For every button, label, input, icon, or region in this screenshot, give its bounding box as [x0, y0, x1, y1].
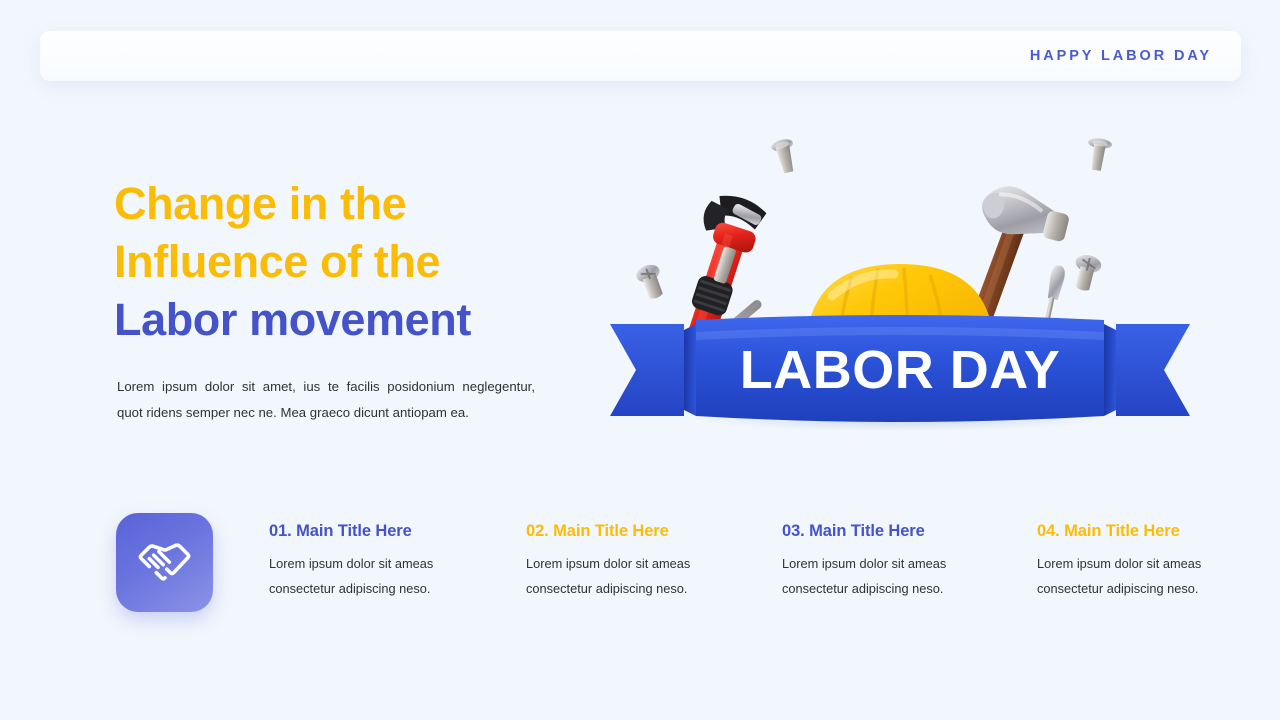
feature-card-body-line-1: Lorem ipsum dolor sit ameas: [526, 551, 756, 576]
headline-line-1: Change in the: [114, 175, 634, 233]
feature-card-body: Lorem ipsum dolor sit ameas consectetur …: [782, 551, 1012, 601]
handshake-icon: [137, 535, 193, 591]
feature-card-body-line-1: Lorem ipsum dolor sit ameas: [269, 551, 499, 576]
feature-card-title: 04. Main Title Here: [1037, 522, 1267, 541]
feature-card-body-line-2: consectetur adipiscing neso.: [1037, 576, 1267, 601]
ribbon-banner: LABOR DAY: [610, 315, 1190, 422]
feature-card-title: 02. Main Title Here: [526, 522, 756, 541]
feature-card-body: Lorem ipsum dolor sit ameas consectetur …: [269, 551, 499, 601]
feature-card-01[interactable]: 01. Main Title Here Lorem ipsum dolor si…: [269, 522, 499, 601]
slide-canvas: HAPPY LABOR DAY Change in the Influence …: [0, 0, 1280, 720]
feature-card-title: 03. Main Title Here: [782, 522, 1012, 541]
feature-card-body-line-2: consectetur adipiscing neso.: [526, 576, 756, 601]
screw-icon: [634, 262, 668, 302]
headline-line-2: Influence of the: [114, 233, 634, 291]
top-bar: HAPPY LABOR DAY: [40, 31, 1241, 81]
page-title: Change in the Influence of the Labor mov…: [114, 175, 634, 349]
feature-card-02[interactable]: 02. Main Title Here Lorem ipsum dolor si…: [526, 522, 756, 601]
lead-line-1: Lorem ipsum dolor sit amet, ius te facil…: [117, 374, 535, 400]
feature-card-body-line-2: consectetur adipiscing neso.: [269, 576, 499, 601]
lead-line-2: quot ridens semper nec ne. Mea graeco di…: [117, 400, 535, 426]
feature-card-04[interactable]: 04. Main Title Here Lorem ipsum dolor si…: [1037, 522, 1267, 601]
feature-card-body-line-2: consectetur adipiscing neso.: [782, 576, 1012, 601]
feature-card-body: Lorem ipsum dolor sit ameas consectetur …: [1037, 551, 1267, 601]
feature-card-body-line-1: Lorem ipsum dolor sit ameas: [1037, 551, 1267, 576]
bolt-icon: [1084, 137, 1112, 172]
feature-icon-tile[interactable]: [116, 513, 213, 612]
feature-card-body-line-1: Lorem ipsum dolor sit ameas: [782, 551, 1012, 576]
top-bar-title: HAPPY LABOR DAY: [1030, 31, 1212, 81]
ribbon-text: LABOR DAY: [740, 340, 1061, 400]
headline-line-3: Labor movement: [114, 291, 634, 349]
screw-icon: [1069, 252, 1103, 293]
feature-card-body: Lorem ipsum dolor sit ameas consectetur …: [526, 551, 756, 601]
bolt-icon: [770, 137, 799, 175]
lead-paragraph: Lorem ipsum dolor sit amet, ius te facil…: [117, 374, 535, 426]
labor-day-illustration: LABOR DAY: [600, 120, 1200, 430]
feature-card-title: 01. Main Title Here: [269, 522, 499, 541]
feature-card-03[interactable]: 03. Main Title Here Lorem ipsum dolor si…: [782, 522, 1012, 601]
